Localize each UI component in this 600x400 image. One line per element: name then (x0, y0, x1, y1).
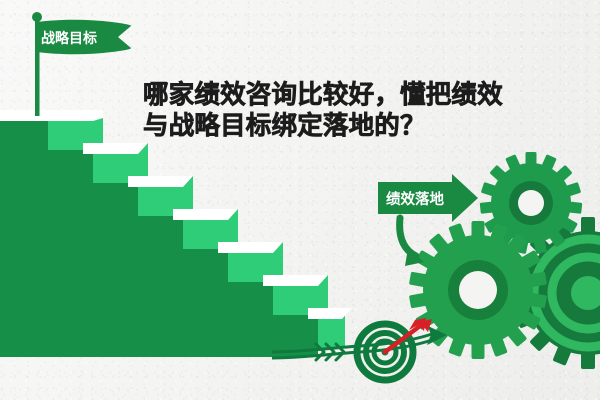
performance-landing-banner: 绩效落地 (0, 0, 600, 400)
poster-canvas: 战略目标 哪家绩效咨询比较好，懂把绩效 与战略目标绑定落地的？ (0, 0, 600, 400)
banner-label: 绩效落地 (386, 190, 444, 208)
curved-arrow-icon (400, 218, 424, 266)
